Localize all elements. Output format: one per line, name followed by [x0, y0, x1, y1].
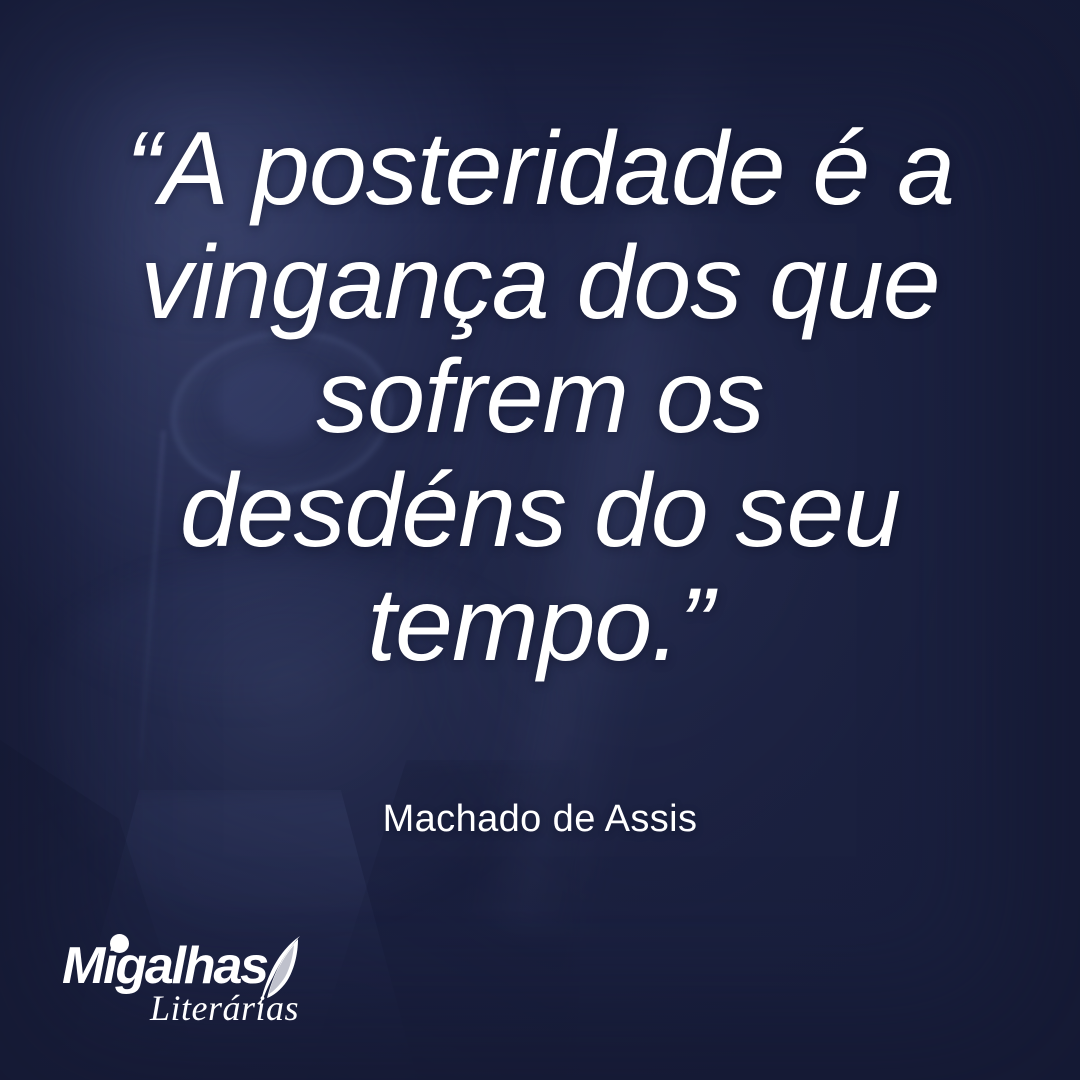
migalhas-literarias-logo[interactable]: Migalhas Literárias: [62, 932, 322, 1024]
quote-author: Machado de Assis: [60, 798, 1020, 841]
quote-line: vingança dos que: [60, 226, 1020, 340]
card-content: “A posteridade é a vingança dos que sofr…: [0, 0, 1080, 1080]
logo-brand-text: Migalhas: [62, 940, 267, 992]
quote-line: desdéns do seu: [60, 454, 1020, 568]
quote-text: “A posteridade é a vingança dos que sofr…: [60, 112, 1020, 682]
quote-line: sofrem os: [60, 340, 1020, 454]
quote-line: “A posteridade é a: [60, 112, 1020, 226]
quote-line: tempo.”: [60, 568, 1020, 682]
logo-subbrand-text: Literárias: [150, 990, 299, 1026]
quote-card: “A posteridade é a vingança dos que sofr…: [0, 0, 1080, 1080]
